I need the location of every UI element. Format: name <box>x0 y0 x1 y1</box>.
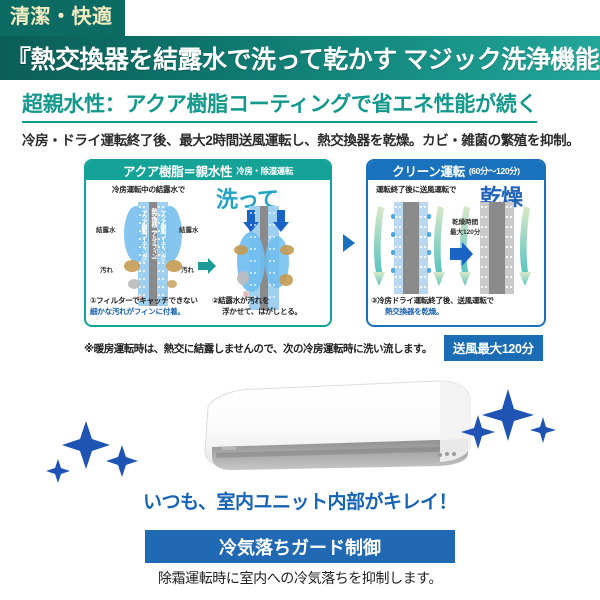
sparkle-icon <box>461 389 556 449</box>
panel-left-title: アクア樹脂＝親水性 <box>123 161 232 180</box>
panel-left-body: 冷房運転中の結露水で 洗って <box>86 180 330 325</box>
label-coating-right: アクア樹脂コーティング <box>159 210 165 282</box>
panel-right-caption: ③冷房ドライ運転終了後、送風運転で 熱交換器を乾燥。 <box>371 295 494 317</box>
right-caption-line1: ③冷房ドライ運転終了後、送風運転で <box>371 295 494 306</box>
panel-right-title: クリーン運転 <box>392 161 465 180</box>
header-badge-row: 清潔・快適 <box>0 0 600 36</box>
sparkle-icon <box>46 421 138 483</box>
dry-time-line1: 乾燥時間 <box>450 216 480 226</box>
infographic-page: 清潔・快適 『熱交換器を結露水で洗って乾かす マジック洗浄機能』搭載 超親水性：… <box>0 0 600 600</box>
tagline: いつも、室内ユニット内部がキレイ！ <box>0 487 600 514</box>
panel-left-top-note: 冷房運転中の結露水で <box>112 184 185 195</box>
panel-aqua-resin: アクア樹脂＝親水性 冷房・除湿運転 冷房運転中の結露水で 洗って <box>84 159 332 327</box>
label-dirt-left: 汚れ <box>100 264 113 274</box>
panel-right-subtitle: (60分〜120分) <box>469 165 520 177</box>
panel-right-body: 運転終了後に送風運転で 乾燥 <box>368 180 544 325</box>
caption1-line1: ①フィルターでキャッチできない <box>90 295 198 306</box>
label-coating-left: アクア樹脂コーティング <box>140 210 146 282</box>
product-image-area <box>0 367 600 485</box>
panel-left-subtitle: 冷房・除湿運転 <box>236 165 293 177</box>
airflow-duration-badge: 送風最大120分 <box>444 335 543 361</box>
subtitle-heading: 超親水性：アクア樹脂コーティングで省エネ性能が続く <box>22 88 537 123</box>
panel-left-caption-1: ①フィルターでキャッチできない 細かな汚れがフィンに付着。 <box>90 295 198 317</box>
dry-time-line2: 最大120分 <box>450 226 480 236</box>
right-caption-line2: 熱交換器を乾燥。 <box>371 306 494 317</box>
footnote-row: ※暖房運転時は、熱交に結露しませんので、次の冷房運転時に洗い流します。 送風最大… <box>0 327 600 361</box>
panel-left-header: アクア樹脂＝親水性 冷房・除湿運転 <box>86 161 330 180</box>
category-badge: 清潔・快適 <box>0 0 125 36</box>
label-dirt-right: 汚れ <box>181 264 194 274</box>
footnote-text: ※暖房運転時は、熱交に結露しませんので、次の冷房運転時に洗い流します。 <box>84 341 432 356</box>
panel-right-header: クリーン運転 (60分〜120分) <box>368 161 544 180</box>
header-title-bar: 『熱交換器を結露水で洗って乾かす マジック洗浄機能』搭載 <box>0 36 600 80</box>
page-title: 『熱交換器を結露水で洗って乾かす マジック洗浄機能』搭載 <box>6 40 600 76</box>
panel-left-caption-2: ②結露水が汚れを 浮かせて、はがしとる。 <box>212 295 302 317</box>
caption1-line2: 細かな汚れがフィンに付着。 <box>90 306 198 317</box>
arrow-right-icon <box>343 234 355 252</box>
arrow-right-icon <box>198 258 216 274</box>
label-condensate-right: 結露水 <box>179 224 199 234</box>
label-fin: 熱交換器（アルミフィン） <box>150 208 156 284</box>
panel-transition-arrow <box>342 234 356 252</box>
caption2-line1: ②結露水が汚れを <box>212 295 302 306</box>
subtitle-block: 超親水性：アクア樹脂コーティングで省エネ性能が続く 冷房・ドライ運転終了後、最大… <box>0 80 600 149</box>
cold-air-guard-description: 除霜運転時に室内への冷気落ちを抑制します。 <box>0 568 600 588</box>
panel-clean-operation: クリーン運転 (60分〜120分) 運転終了後に送風運転で 乾燥 <box>366 159 546 327</box>
label-condensate-left: 結露水 <box>96 224 116 234</box>
dry-time-label: 乾燥時間 最大120分 <box>450 216 480 236</box>
diagram-panels: アクア樹脂＝親水性 冷房・除湿運転 冷房運転中の結露水で 洗って <box>0 149 600 327</box>
subtitle-body: 冷房・ドライ運転終了後、最大2時間送風運転し、熱交換器を乾燥。カビ・雑菌の繁殖を… <box>22 129 586 149</box>
cold-air-guard-banner: 冷気落ちガード制御 <box>145 530 455 563</box>
caption2-line2: 浮かせて、はがしとる。 <box>212 306 302 317</box>
panel-right-top-note: 運転終了後に送風運転で <box>376 184 456 195</box>
air-conditioner-illustration <box>0 367 600 485</box>
